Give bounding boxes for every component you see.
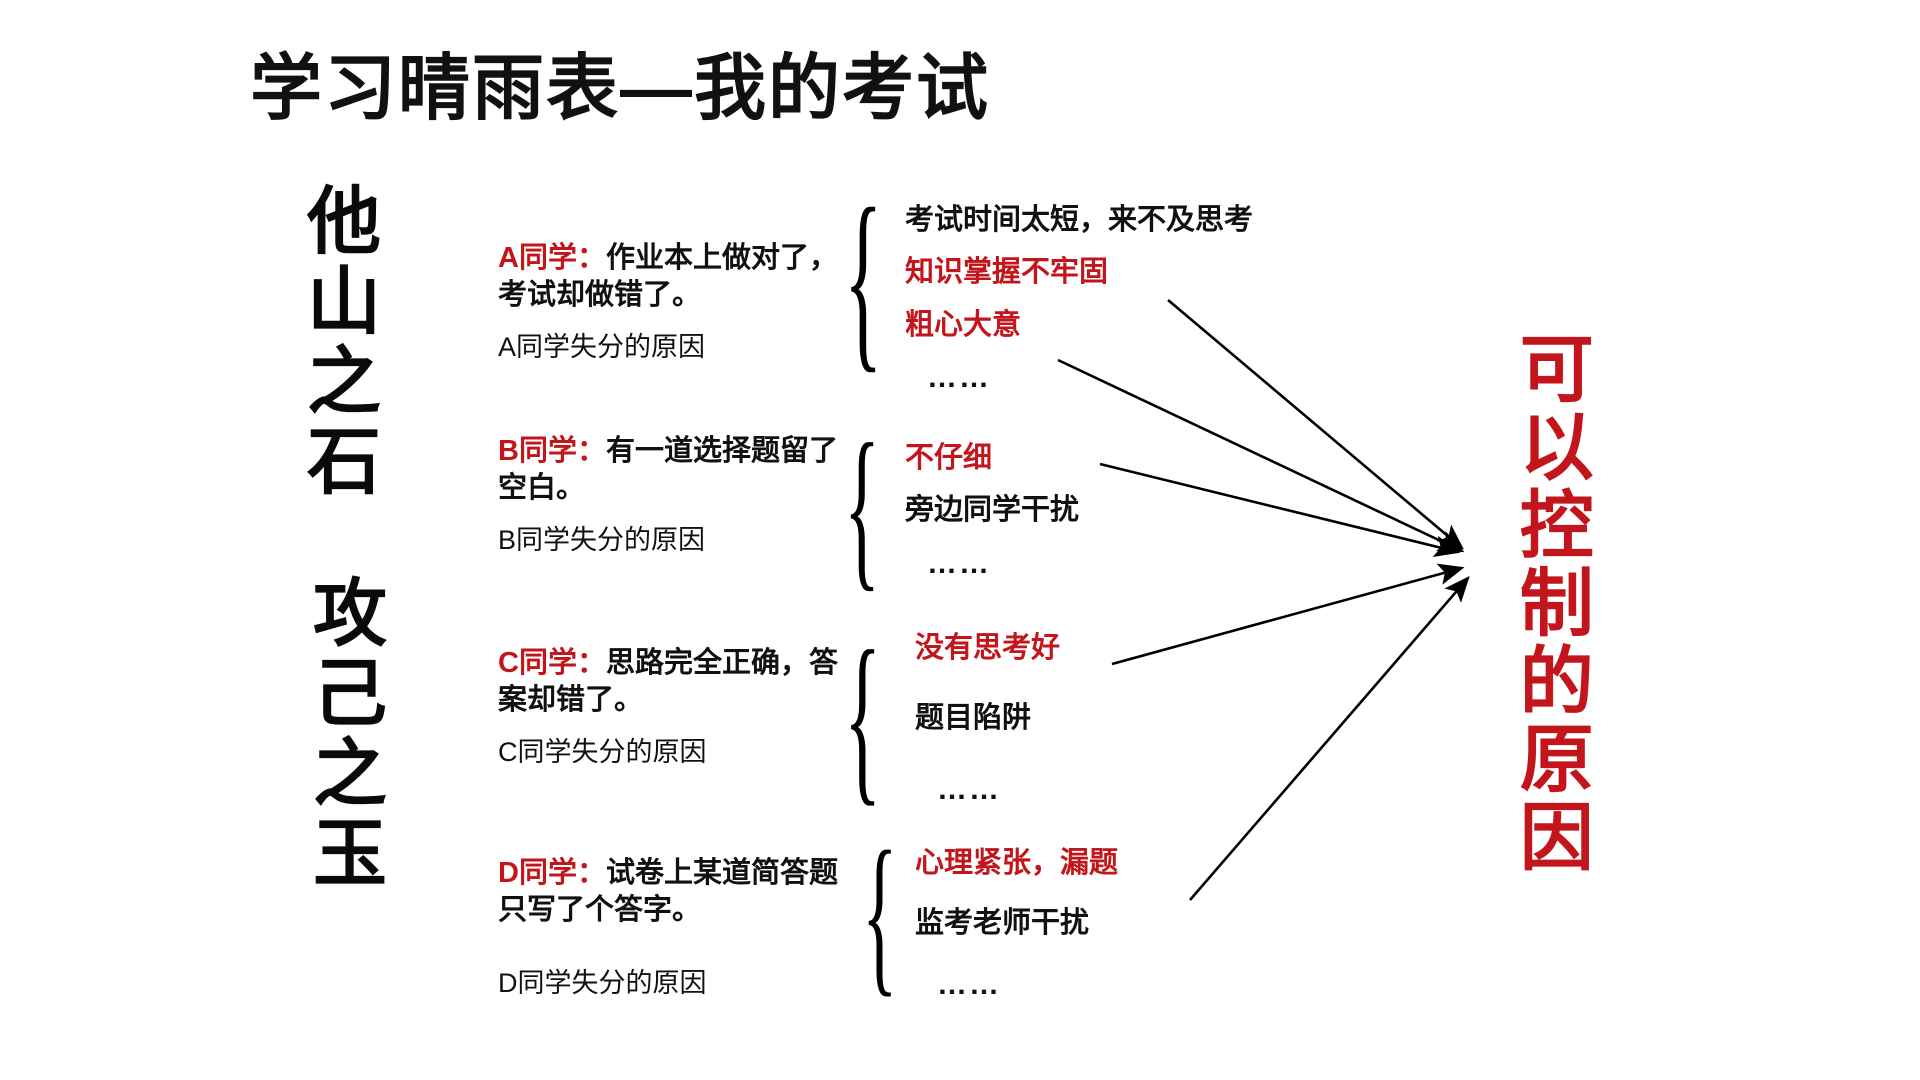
student-b-cause-label: B同学失分的原因 xyxy=(498,524,858,556)
student-b-tag: B同学： xyxy=(498,435,606,467)
reason-item: 监考老师干扰 xyxy=(915,908,1118,938)
student-c-quote: C同学：思路完全正确，答案却错了。 xyxy=(498,645,858,719)
student-block-a: A同学：作业本上做对了，考试却做错了。 A同学失分的原因 xyxy=(498,240,858,364)
reason-item: 没有思考好 xyxy=(915,633,1060,663)
reason-item-ellipsis: …… xyxy=(927,548,1079,580)
reason-item: 旁边同学干扰 xyxy=(905,495,1079,525)
reason-group-b: 不仔细 旁边同学干扰 …… xyxy=(905,443,1079,601)
reason-item: 知识掌握不牢固 xyxy=(905,257,1253,287)
brace-icon-d: { xyxy=(862,825,898,1003)
reason-group-a: 考试时间太短，来不及思考 知识掌握不牢固 粗心大意 …… xyxy=(905,205,1253,416)
student-d-tag: D同学： xyxy=(498,857,606,889)
student-block-b: B同学：有一道选择题留了空白。 B同学失分的原因 xyxy=(498,433,858,557)
arrow-from-b-reason-1 xyxy=(1100,464,1458,552)
student-d-cause-label: D同学失分的原因 xyxy=(498,967,858,999)
reason-group-d: 心理紧张，漏题 监考老师干扰 …… xyxy=(915,848,1118,1030)
reason-item-ellipsis: …… xyxy=(937,774,1060,806)
motto-line-1: 他山之石 xyxy=(300,182,375,502)
student-c-tag: C同学： xyxy=(498,647,606,679)
reason-item: 心理紧张，漏题 xyxy=(915,848,1118,878)
reason-item: 考试时间太短，来不及思考 xyxy=(905,205,1253,235)
conclusion-text: 可以控制的原因 xyxy=(1512,330,1588,876)
reason-item: 题目陷阱 xyxy=(915,703,1060,733)
student-c-cause-label: C同学失分的原因 xyxy=(498,736,858,768)
student-d-quote: D同学：试卷上某道简答题只写了个答字。 xyxy=(498,855,858,929)
reason-item: 粗心大意 xyxy=(905,310,1253,340)
student-a-cause-label: A同学失分的原因 xyxy=(498,331,858,363)
student-block-c: C同学：思路完全正确，答案却错了。 C同学失分的原因 xyxy=(498,645,858,769)
motto-line-2: 攻己之玉 xyxy=(306,574,381,894)
brace-icon-b: { xyxy=(844,417,880,597)
student-block-d: D同学：试卷上某道简答题只写了个答字。 D同学失分的原因 xyxy=(498,855,858,1000)
reason-group-c: 没有思考好 题目陷阱 …… xyxy=(915,633,1060,845)
page-title: 学习晴雨表—我的考试 xyxy=(0,52,1240,128)
student-a-quote: A同学：作业本上做对了，考试却做错了。 xyxy=(498,240,858,314)
student-a-tag: A同学： xyxy=(498,242,606,274)
brace-icon-a: { xyxy=(844,178,882,378)
reason-item-ellipsis: …… xyxy=(937,969,1118,1001)
brace-icon-c: { xyxy=(844,623,881,812)
slide-canvas: 学习晴雨表—我的考试 他山之石 攻己之玉 A同学：作业本上做对了，考试却做错了。… xyxy=(0,0,1920,1080)
reason-item: 不仔细 xyxy=(905,443,1079,473)
student-b-quote: B同学：有一道选择题留了空白。 xyxy=(498,433,858,507)
reason-item-ellipsis: …… xyxy=(927,362,1253,394)
arrow-from-d-reason-1 xyxy=(1190,578,1468,900)
arrow-from-c-reason-1 xyxy=(1112,568,1462,664)
